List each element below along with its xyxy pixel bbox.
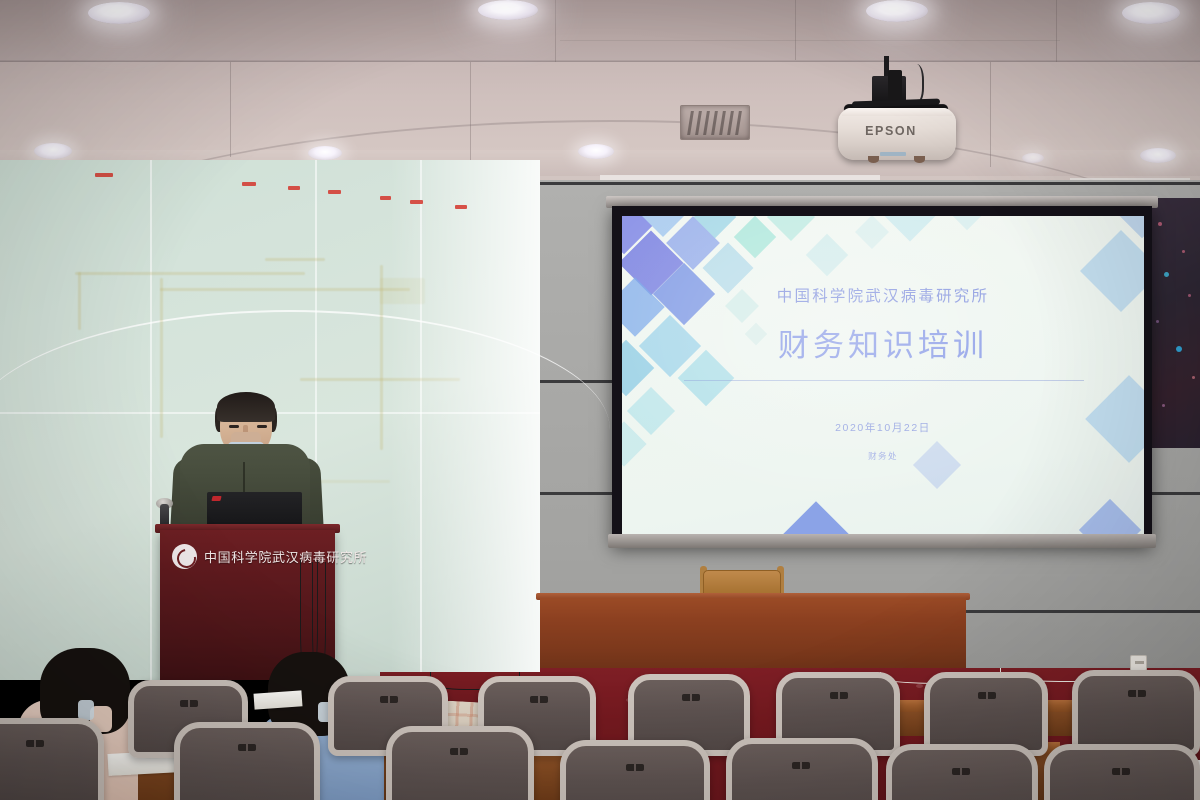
ceiling-downlight (866, 0, 928, 22)
projected-slide: 中国科学院武汉病毒研究所 财务知识培训 2020年10月22日 财务处 (622, 216, 1144, 534)
red-tape-mark (95, 173, 113, 177)
projector-top-edge (842, 108, 952, 116)
auditorium-chair[interactable] (886, 744, 1038, 800)
projector-lens-slot (880, 152, 906, 156)
lecture-hall-photo: EPSON (0, 0, 1200, 800)
slide-organization: 中国科学院武汉病毒研究所 (622, 284, 1144, 306)
projector-foot (868, 156, 879, 163)
ceiling-seam (990, 62, 991, 167)
epson-projector: EPSON (832, 56, 962, 166)
slide-divider (684, 380, 1084, 381)
ceiling-downlight (1022, 153, 1044, 163)
slide-department: 财务处 (622, 450, 1144, 462)
speaker-hair (217, 392, 275, 422)
red-tape-mark (328, 190, 341, 194)
auditorium-chair[interactable] (174, 722, 320, 800)
ceiling-downlight (34, 143, 72, 159)
institute-logo-icon (172, 544, 197, 569)
red-tape-mark (242, 182, 256, 186)
slide-title: 财务知识培训 (622, 320, 1144, 365)
ceiling-seam (1056, 0, 1057, 62)
auditorium-chair[interactable] (0, 718, 104, 800)
laptop-brand-logo-icon (211, 496, 221, 501)
screen-bottom-bar (608, 534, 1156, 548)
ceiling-downlight (478, 0, 538, 20)
hvac-vent-icon (680, 105, 750, 140)
projector-foot (914, 156, 925, 163)
ceiling-seam (470, 62, 471, 162)
ceiling-downlight (578, 144, 614, 159)
podium-sign-text: 中国科学院武汉病毒研究所 (204, 547, 367, 566)
ceiling-seam (795, 0, 796, 60)
ceiling-seam (560, 40, 1060, 41)
red-tape-mark (380, 196, 391, 200)
ceiling-downlight (308, 146, 342, 160)
face-mask-icon (78, 700, 94, 720)
ceiling-upper-band (0, 0, 1200, 62)
speaker-eye (229, 425, 239, 428)
document-paper (254, 690, 303, 709)
auditorium-chair[interactable] (386, 726, 534, 800)
ceiling-seam (555, 0, 556, 62)
ceiling-seam (0, 60, 1200, 61)
auditorium-chair[interactable] (1044, 744, 1200, 800)
auditorium-chair[interactable] (560, 740, 710, 800)
red-tape-mark (410, 200, 423, 204)
red-tape-mark (288, 186, 300, 190)
red-tape-mark (455, 205, 467, 209)
ceiling-seam (230, 62, 231, 157)
wall-outlet-icon (1130, 655, 1147, 671)
ceiling-downlight (1140, 148, 1176, 163)
ceiling-downlight (88, 2, 150, 24)
speaker-eye (257, 425, 267, 428)
projector-brand-label: EPSON (832, 124, 950, 138)
ceiling-downlight (1122, 2, 1180, 24)
projector-cable (906, 64, 924, 104)
slide-date: 2020年10月22日 (622, 420, 1144, 435)
head-table (540, 598, 966, 670)
starry-decor-panel (1148, 198, 1200, 448)
auditorium-chair[interactable] (726, 738, 878, 800)
